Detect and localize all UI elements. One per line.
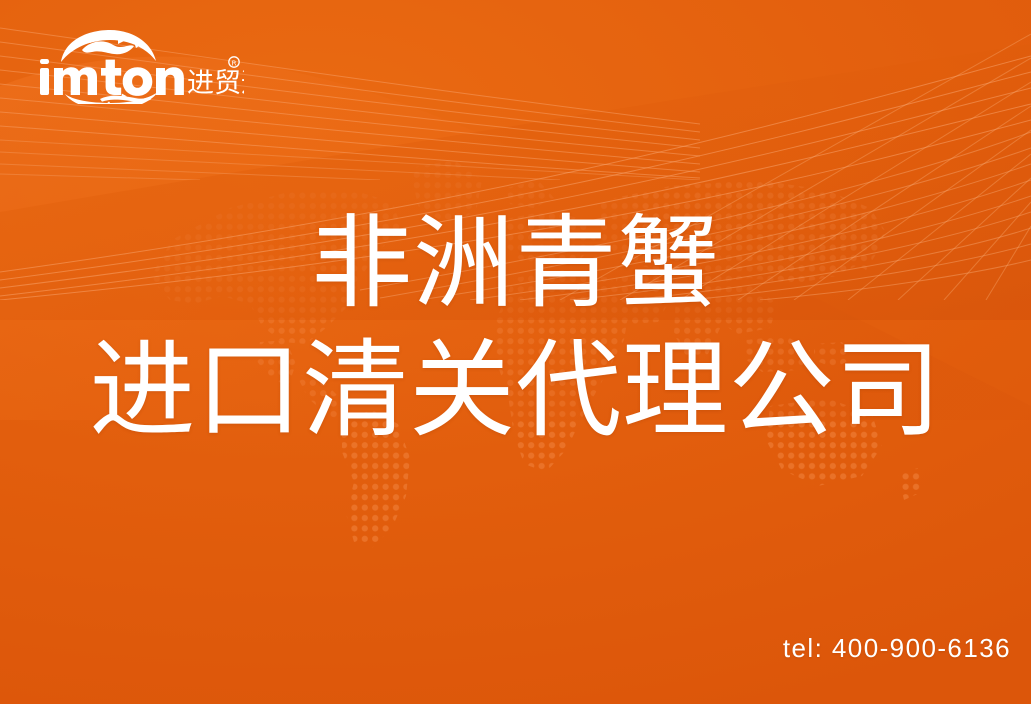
brand-logo-mark: 进贸通 R [34, 28, 244, 104]
logo-wordmark-cn: 进贸通 [187, 68, 244, 99]
contact-phone[interactable]: tel: 400-900-6136 [783, 633, 1011, 664]
title-line-2: 进口清关代理公司 [0, 338, 1031, 444]
title-line-1: 非洲青蟹 [0, 214, 1031, 315]
logo-wordmark-imton [40, 59, 184, 96]
page-title: 非洲青蟹 进口清关代理公司 [0, 214, 1031, 444]
brand-logo[interactable]: 进贸通 R [34, 28, 244, 104]
poster-canvas: 进贸通 R 非洲青蟹 进口清关代理公司 tel: 400-900-6136 [0, 0, 1031, 704]
svg-text:R: R [232, 59, 237, 67]
